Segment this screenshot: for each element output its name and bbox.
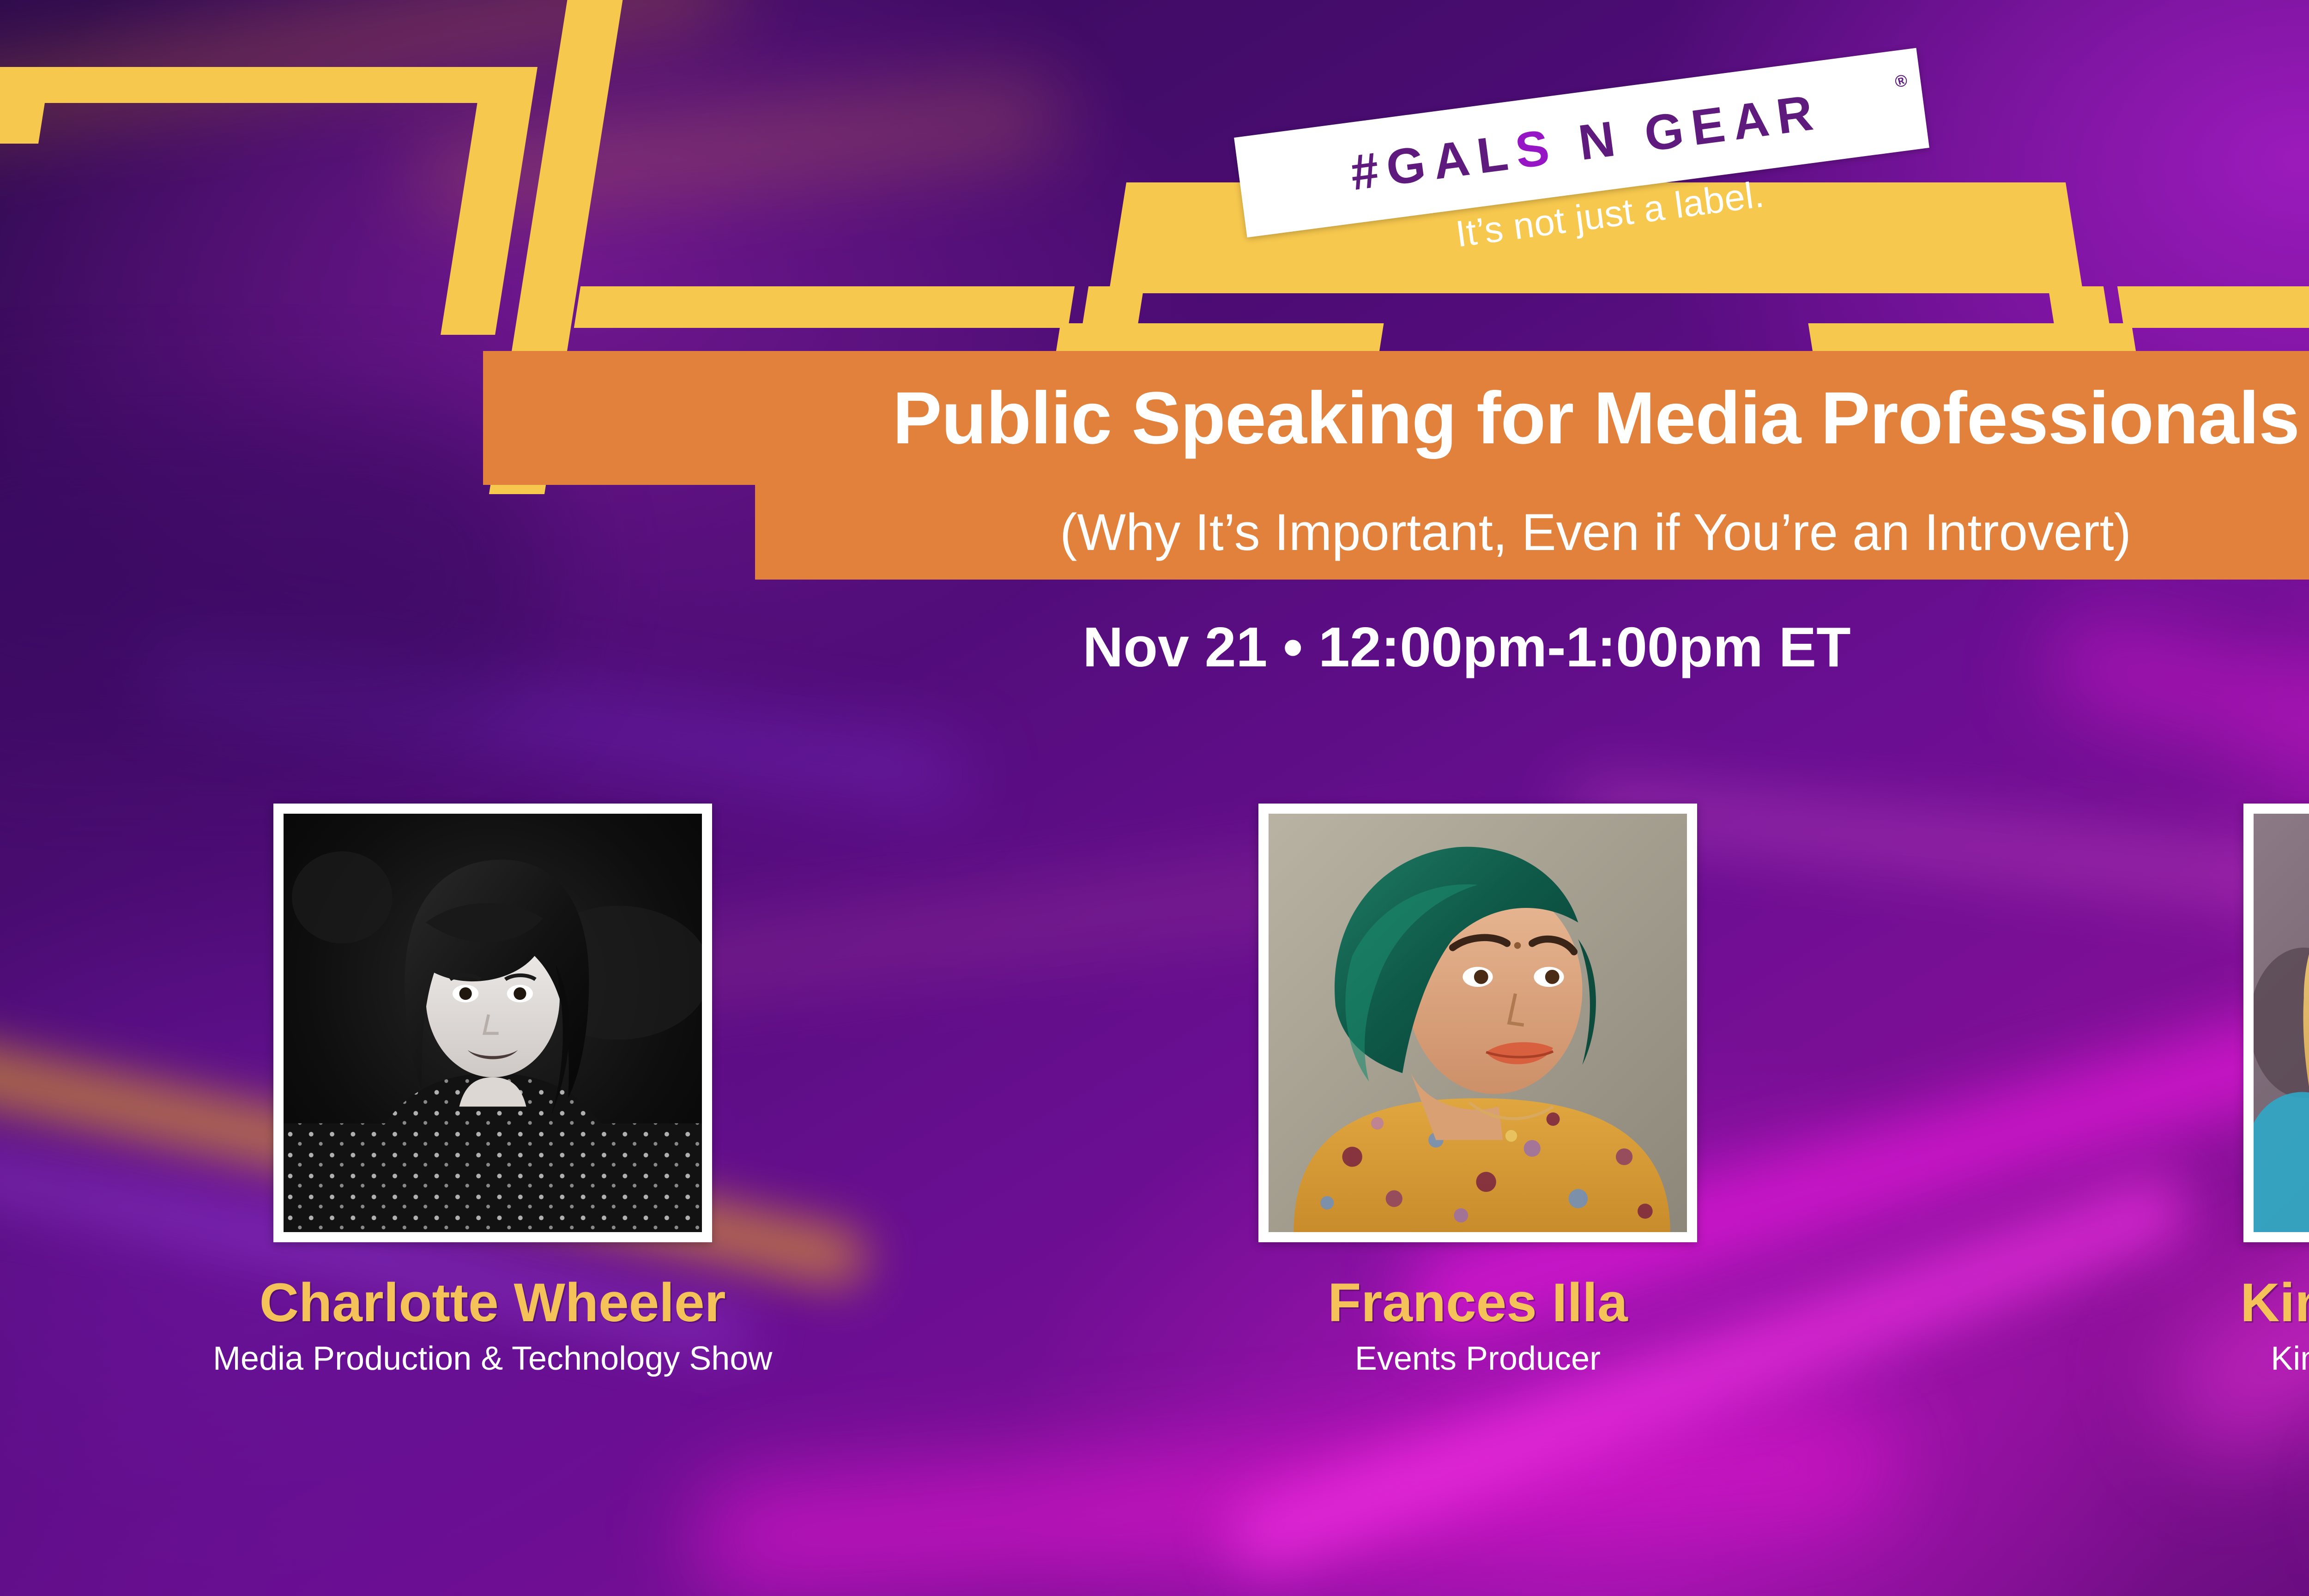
registered-trademark-icon: ® [1893, 70, 1910, 92]
event-datetime: Nov 21 • 12:00pm-1:00pm ET [1082, 619, 2109, 675]
event-subtitle: (Why It’s Important, Even if You’re an I… [1060, 507, 2131, 558]
speaker-role: Events Producer [1355, 1342, 1601, 1375]
logo-wordmark-part2: N GEAR [1553, 83, 1825, 173]
event-title: Public Speaking for Media Professionals [893, 381, 2299, 455]
speaker-photo-frame [1258, 804, 1697, 1242]
speaker-name: Kimberly Skyrme [2240, 1276, 2309, 1330]
speaker-list: Charlotte Wheeler Media Production & Tec… [0, 804, 2309, 1375]
logo-wordmark-part1: #GAL [1347, 123, 1519, 200]
speaker-photo-frame [2243, 804, 2309, 1242]
speaker-name: Frances Illa [1328, 1276, 1627, 1330]
charlotte-wheeler-photo [284, 814, 702, 1232]
speaker-role: Kimberly Skyrme Creative [2271, 1342, 2309, 1375]
brand-logo: #GALS N GEAR ® It’s not just a label. [1238, 74, 1958, 268]
speaker-name: Charlotte Wheeler [260, 1276, 726, 1330]
frances-illa-photo [1269, 814, 1687, 1232]
promo-banner: #GALS N GEAR ® It’s not just a label. Pu… [0, 0, 2309, 1596]
event-title-banner: Public Speaking for Media Professionals [483, 351, 2309, 485]
logo-wordmark-s: S [1512, 118, 1560, 179]
speaker-role: Media Production & Technology Show [213, 1342, 772, 1375]
speaker-card: Frances Illa Events Producer [1085, 804, 1870, 1375]
event-datetime-row: Nov 21 • 12:00pm-1:00pm ET [0, 619, 2309, 675]
event-subtitle-banner: (Why It’s Important, Even if You’re an I… [755, 485, 2309, 580]
speaker-photo-frame [273, 804, 712, 1242]
kimberly-skyrme-photo [2254, 814, 2309, 1232]
speaker-card: Charlotte Wheeler Media Production & Tec… [100, 804, 885, 1375]
speaker-card: Kimberly Skyrme Kimberly Skyrme Creative [2070, 804, 2309, 1375]
bokeh-streak [0, 416, 554, 739]
